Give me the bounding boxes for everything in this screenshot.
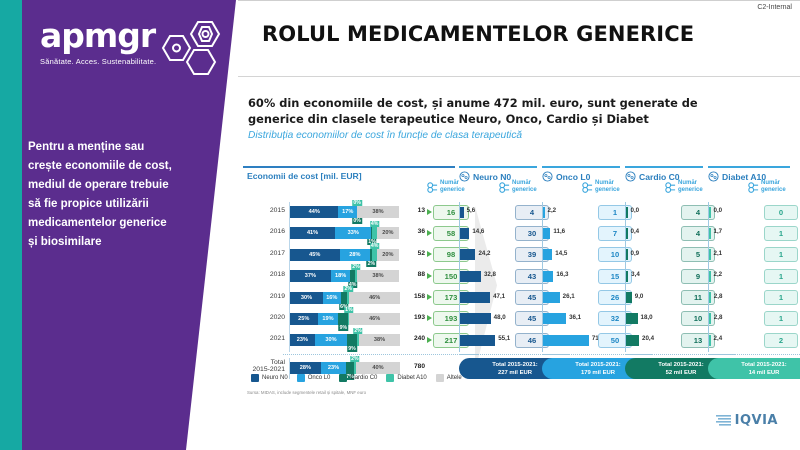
legend-swatch	[297, 374, 305, 382]
stacked-bar: 44%17%0%0%38%	[290, 206, 400, 218]
panel-bar-value: 3,4	[631, 271, 640, 278]
panel-generics-pill: 2	[764, 333, 798, 348]
numgen-label-left: Număr generice	[427, 180, 465, 194]
panel-divider	[708, 354, 800, 355]
bar-segment-altele: 46%	[349, 292, 400, 304]
numgen-label-onco-l0: Numărgenerice	[582, 180, 620, 194]
legend-swatch	[251, 374, 259, 382]
panel-bar	[543, 313, 566, 324]
classification-label: C2-Internal	[757, 4, 792, 11]
bar-segment-neuro-n0: 44%	[290, 206, 338, 218]
row-total-value: 193	[403, 314, 425, 321]
bar-segment-onco-l0: 28%	[340, 249, 371, 261]
panel-bar-value: 26,1	[563, 293, 575, 300]
numgen-l2: generice	[512, 187, 537, 193]
iqvia-logo: IQVIA	[716, 413, 778, 428]
legend-item-altele: Altele	[436, 374, 462, 382]
panel-total-pill-diabet-a10: Total 2015-2021:14 mil EUR	[708, 358, 800, 379]
bar-segment-neuro-n0: 37%	[290, 270, 331, 282]
legend-swatch	[339, 374, 347, 382]
bar-segment-neuro-n0: 28%	[290, 362, 321, 374]
row-total-value: 88	[403, 271, 425, 278]
bar-segment-diabet-a10: 2%	[355, 270, 357, 282]
rule-panel-diabet	[708, 166, 790, 168]
bar-segment-altele: 46%	[349, 313, 400, 325]
legend-item-cardio-c0: Cardio C0	[339, 374, 377, 382]
sidebar-body-text: Pentru a menține sau crește economiile d…	[28, 138, 178, 252]
panel-bar-value: 48,0	[494, 314, 506, 321]
panel-bar-value: 47,1	[493, 293, 505, 300]
panel-bar	[626, 249, 628, 260]
panel-bar-value: 24,2	[478, 250, 490, 257]
panel-bar	[709, 249, 711, 260]
panel-bar-value: 2,2	[548, 207, 557, 214]
capsule-icon	[748, 182, 759, 193]
row-total-value: 780	[403, 363, 425, 370]
panel-row: 2,11	[708, 245, 800, 266]
bar-segment-onco-l0: 19%	[318, 313, 339, 325]
stacked-bar: 37%18%4%2%38%	[290, 270, 400, 282]
panel-bar-value: 0,0	[714, 207, 723, 214]
header-divider	[238, 76, 800, 77]
heart-pulse-icon	[625, 171, 636, 182]
panel-row: 1,71	[708, 223, 800, 244]
panel-bar-value: 0,9	[631, 250, 640, 257]
panel-total-label: Total 2015-2021:	[575, 361, 620, 369]
numgen-label-l2: generice	[440, 187, 465, 193]
stacked-bar: 41%33%1%4%20%	[290, 227, 400, 239]
panel-total-label: Total 2015-2021:	[658, 361, 703, 369]
panel-bar	[543, 271, 553, 282]
legend-label: Cardio C0	[350, 375, 377, 381]
year-label: 2015	[247, 207, 285, 214]
rule-panel-onco	[542, 166, 620, 168]
panel-bar	[460, 335, 495, 346]
year-label: 2016	[247, 228, 285, 235]
bar-segment-cardio-c0: 7%	[346, 362, 354, 374]
source-note: Sursa: MIDAS, include segmentele retail …	[247, 390, 366, 395]
iqvia-wordmark: IQVIA	[735, 413, 778, 428]
rule-panel-neuro	[459, 166, 537, 168]
panel-bar	[460, 292, 490, 303]
headline-line-2: generice din clasele terapeutice Neuro, …	[248, 112, 796, 128]
panel-rows-diabet-a10: 0,001,712,112,212,812,812,42	[708, 202, 800, 359]
headline-line-1: 60% din economiile de cost, și anume 472…	[248, 96, 796, 112]
stacked-bar: 45%28%2%4%20%	[290, 249, 400, 261]
panel-bar	[709, 313, 711, 324]
capsule-icon	[665, 182, 676, 193]
bar-segment-diabet-a10: 1%	[348, 313, 349, 325]
numgen-l2: generice	[595, 187, 620, 193]
panel-generics-pill: 1	[764, 247, 798, 262]
content-header: 60% din economiile de cost, și anume 472…	[248, 96, 796, 141]
panel-bar-value: 2,2	[714, 271, 723, 278]
bar-segment-diabet-a10: 2%	[357, 334, 359, 346]
panel-bar-value: 55,1	[498, 335, 510, 342]
bar-segment-onco-l0: 17%	[338, 206, 357, 218]
legend-label: Neuro N0	[262, 375, 288, 381]
stacked-bar: 25%19%9%1%46%	[290, 313, 400, 325]
row-total-value: 36	[403, 228, 425, 235]
panel-bar	[709, 228, 711, 239]
row-total-value: 13	[403, 207, 425, 214]
page-title: ROLUL MEDICAMENTELOR GENERICE	[262, 22, 694, 46]
top-divider	[238, 0, 800, 1]
numgen-label-l1: Număr	[440, 180, 459, 186]
legend-label: Diabet A10	[397, 375, 426, 381]
row-total-value: 240	[403, 335, 425, 342]
bar-segment-neuro-n0: 45%	[290, 249, 340, 261]
panel-bar	[709, 292, 711, 303]
bar-segment-onco-l0: 33%	[335, 227, 371, 239]
panel-bar-value: 9,0	[635, 293, 644, 300]
hexagon-cluster-icon	[160, 20, 222, 78]
total-divider	[283, 354, 478, 355]
legend-swatch	[436, 374, 444, 382]
year-label: 2020	[247, 314, 285, 321]
numgen-label-neuro-n0: Numărgenerice	[499, 180, 537, 194]
legend-label: Altele	[447, 375, 462, 381]
numgen-label-cardio-c0: Numărgenerice	[665, 180, 703, 194]
panel-bar	[460, 207, 464, 218]
rule-left-chart	[243, 166, 455, 168]
panel-generics-pill: 0	[764, 205, 798, 220]
total-row-label: Total2015-2021	[247, 359, 285, 374]
panel-bar-value: 0,4	[631, 228, 640, 235]
panel-bar	[709, 335, 711, 346]
teal-accent-stripe	[0, 0, 22, 450]
bar-segment-altele: 38%	[357, 206, 399, 218]
legend-item-neuro-n0: Neuro N0	[251, 374, 288, 382]
apmgr-logo: apmgr Sănătate. Acces. Sustenabilitate.	[40, 18, 220, 78]
iqvia-mark-icon	[716, 414, 732, 427]
panel-bar-value: 14,6	[472, 228, 484, 235]
panel-bar	[626, 335, 639, 346]
panel-bar	[709, 271, 711, 282]
panel-bar	[709, 207, 711, 218]
panel-bar-value: 2,1	[714, 250, 723, 257]
panel-bar-value: 14,5	[555, 250, 567, 257]
bar-segment-diabet-a10: 2%	[354, 362, 356, 374]
legend-label: Onco L0	[308, 375, 331, 381]
bar-segment-diabet-a10: 2%	[347, 292, 349, 304]
panel-bar-value: 20,4	[642, 335, 654, 342]
left-chart-title: Economii de cost [mil. EUR]	[247, 171, 362, 181]
legend-item-onco-l0: Onco L0	[297, 374, 331, 382]
row-total-value: 158	[403, 293, 425, 300]
bar-segment-altele: 40%	[356, 362, 400, 374]
brain-icon	[459, 171, 470, 182]
panel-bar	[460, 249, 475, 260]
panel-total-value: 52 mil EUR	[666, 369, 697, 377]
panel-total-value: 14 mil EUR	[749, 369, 780, 377]
panel-bar	[543, 335, 589, 346]
panel-row: 2,81	[708, 309, 800, 330]
headline-subtitle: Distribuția economiilor de cost în funcț…	[248, 130, 796, 141]
chart-legend: Neuro N0Onco L0Cardio C0Diabet A10Altele	[251, 374, 462, 382]
chart-area: Economii de cost [mil. EUR] Număr generi…	[243, 166, 796, 394]
panel-bar-value: 16,3	[556, 271, 568, 278]
legend-item-diabet-a10: Diabet A10	[386, 374, 426, 382]
year-label: 2018	[247, 271, 285, 278]
slide-root: C2-Internal apmgr Sănătate. Acces. Suste…	[0, 0, 800, 450]
generics-arrow-icon	[427, 230, 432, 236]
panel-bar-value: 11,6	[553, 228, 565, 235]
bar-segment-onco-l0: 18%	[331, 270, 351, 282]
numgen-label-diabet-a10: Numărgenerice	[748, 180, 786, 194]
cells-icon	[542, 171, 553, 182]
numgen-l1: Număr	[678, 180, 697, 186]
glucose-meter-icon	[708, 171, 719, 182]
panel-bar-value: 32,8	[484, 271, 496, 278]
bar-segment-cardio-c0: 9%	[347, 334, 357, 346]
panel-bar	[626, 271, 628, 282]
numgen-l1: Număr	[761, 180, 780, 186]
panel-total-value: 179 mil EUR	[581, 369, 615, 377]
panel-bar	[543, 228, 550, 239]
bar-segment-altele: 20%	[377, 227, 399, 239]
numgen-l1: Număr	[595, 180, 614, 186]
bar-segment-neuro-n0: 25%	[290, 313, 318, 325]
panel-row: 0,00	[708, 202, 800, 223]
generics-arrow-icon	[427, 273, 432, 279]
bar-segment-altele: 38%	[357, 270, 399, 282]
row-total-value: 52	[403, 250, 425, 257]
bar-segment-diabet-a10: 4%	[372, 227, 376, 239]
panel-total-label: Total 2015-2021:	[741, 361, 786, 369]
numgen-l2: generice	[678, 187, 703, 193]
panel-bar-value: 2,4	[714, 335, 723, 342]
stacked-bar: 23%30%9%2%38%	[290, 334, 400, 346]
bar-segment-cardio-c0: 6%	[341, 292, 348, 304]
panel-bar	[543, 249, 552, 260]
bar-segment-neuro-n0: 41%	[290, 227, 335, 239]
panel-bar-value: 18,0	[641, 314, 653, 321]
panel-bar	[626, 207, 628, 218]
bar-segment-onco-l0: 23%	[321, 362, 346, 374]
year-label: 2017	[247, 250, 285, 257]
panel-total-value: 227 mil EUR	[498, 369, 532, 377]
capsule-icon	[499, 182, 510, 193]
bar-segment-neuro-n0: 23%	[290, 334, 315, 346]
panel-bar	[626, 292, 632, 303]
panel-bar	[626, 228, 628, 239]
stacked-bar: 30%16%6%2%46%	[290, 292, 400, 304]
panel-total-label: Total 2015-2021:	[492, 361, 537, 369]
panel-row: 2,42	[708, 330, 800, 351]
bar-segment-neuro-n0: 30%	[290, 292, 323, 304]
panel-row: 2,21	[708, 266, 800, 287]
capsule-icon	[582, 182, 593, 193]
left-chart-title-text: Economii de cost [mil. EUR]	[247, 171, 362, 181]
generics-arrow-icon	[427, 251, 432, 257]
panel-generics-pill: 1	[764, 311, 798, 326]
panel-bar-value: 2,8	[714, 314, 723, 321]
year-label: 2021	[247, 335, 285, 342]
panel-bar-value: 36,1	[569, 314, 581, 321]
numgen-l2: generice	[761, 187, 786, 193]
numgen-l1: Număr	[512, 180, 531, 186]
capsule-icon	[427, 182, 438, 193]
generics-arrow-icon	[427, 315, 432, 321]
stacked-bar: 28%23%7%2%40%	[290, 362, 400, 374]
panel-generics-pill: 1	[764, 226, 798, 241]
generics-arrow-icon	[427, 337, 432, 343]
bar-segment-onco-l0: 30%	[315, 334, 347, 346]
legend-swatch	[386, 374, 394, 382]
panel-row: 2,81	[708, 288, 800, 309]
bar-segment-onco-l0: 16%	[323, 292, 341, 304]
panel-bar	[543, 207, 545, 218]
panel-bar	[460, 313, 491, 324]
panel-generics-pill: 1	[764, 290, 798, 305]
panel-bar	[543, 292, 560, 303]
panel-bar-value: 0,0	[631, 207, 640, 214]
panel-generics-pill: 1	[764, 269, 798, 284]
bar-segment-altele: 20%	[377, 249, 399, 261]
panel-bar	[460, 228, 469, 239]
panel-bar-value: 2,8	[714, 293, 723, 300]
panel-bar-value: 1,7	[714, 228, 723, 235]
bar-segment-cardio-c0: 9%	[338, 313, 348, 325]
generics-arrow-icon	[427, 294, 432, 300]
generics-arrow-icon	[427, 209, 432, 215]
year-label: 2019	[247, 293, 285, 300]
rule-panel-cardio	[625, 166, 703, 168]
panel-bar	[460, 271, 481, 282]
panel-bar-value: 5,6	[467, 207, 476, 214]
panel-bar	[626, 313, 638, 324]
bar-segment-diabet-a10: 4%	[372, 249, 376, 261]
bar-segment-altele: 38%	[359, 334, 400, 346]
